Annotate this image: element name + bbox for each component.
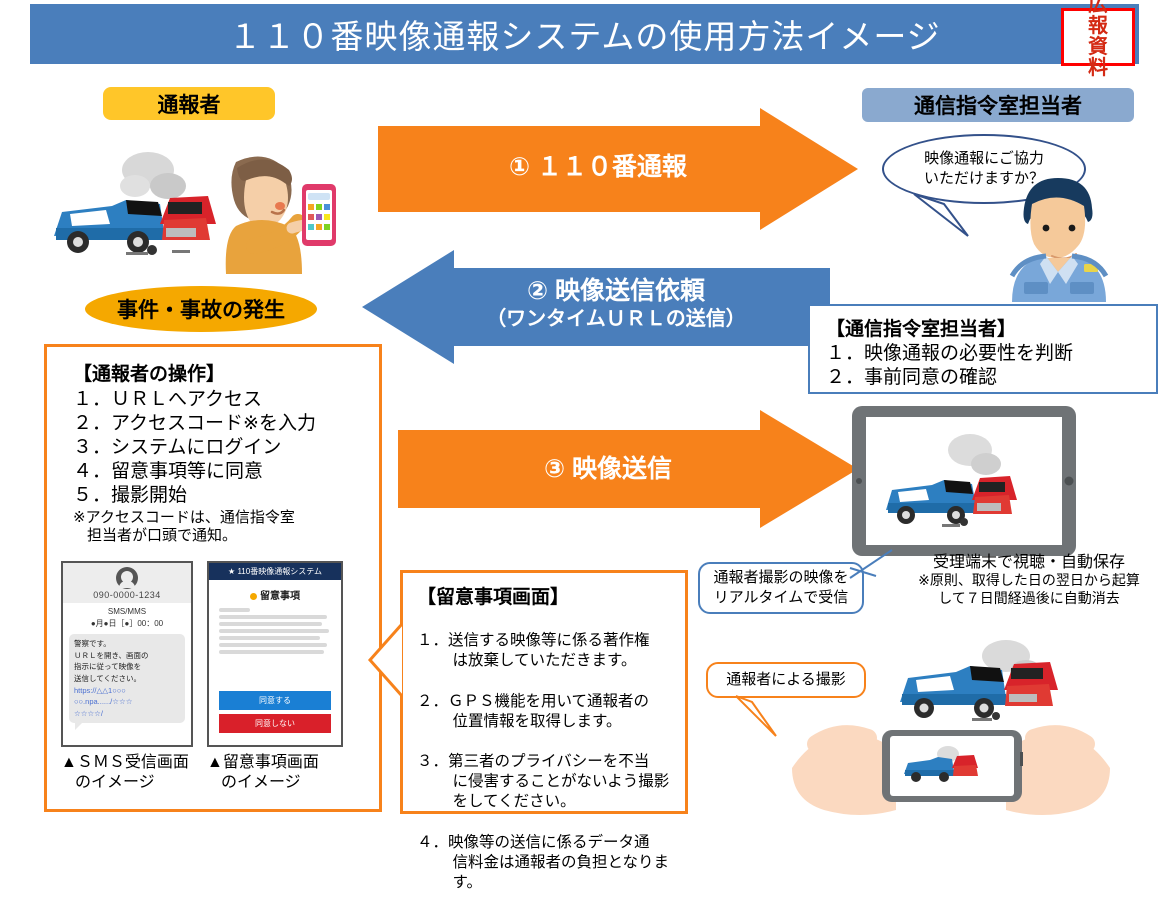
notices-text-placeholder bbox=[209, 608, 341, 654]
sms-body-line2: ＵＲＬを開き、画面の bbox=[74, 650, 180, 662]
access-code-footnote-line2: 担当者が口頭で通知。 bbox=[73, 527, 379, 545]
caller-operations-box: 【通報者の操作】 １．ＵＲＬへアクセス ２．アクセスコード※を入力 ３．システム… bbox=[44, 344, 382, 812]
callout-filming-tail bbox=[730, 694, 790, 740]
list-item: ２．事前同意の確認 bbox=[826, 366, 1156, 390]
hands-filming-illustration bbox=[786, 716, 1116, 824]
arrow-1-report: ① １１０番通報 bbox=[378, 108, 858, 230]
sms-message-bubble: 警察です。 ＵＲＬを開き、画面の 指示に従って映像を 送信してください。 htt… bbox=[69, 634, 185, 723]
list-item: ４．留意事項等に同意 bbox=[73, 460, 379, 484]
terminal-storage-note: 受理端末で視聴・自動保存 ※原則、取得した日の翌日から起算 して７日間経過後に自… bbox=[898, 548, 1160, 608]
arrow-3-video-send: ③ 映像送信 bbox=[398, 408, 858, 530]
dispatcher-illustration bbox=[1000, 168, 1130, 302]
pr-material-badge: 広報資料 bbox=[1061, 8, 1135, 66]
sms-phone-number: 090-0000-1234 bbox=[63, 590, 191, 600]
list-item: ２．アクセスコード※を入力 bbox=[73, 412, 379, 436]
list-item: １．映像通報の必要性を判断 bbox=[826, 342, 1156, 366]
speech-line1: 映像通報にご協力 bbox=[924, 149, 1044, 169]
sms-url-line2[interactable]: ○○.npa....../☆☆☆ bbox=[74, 696, 180, 708]
agree-button[interactable]: 同意する bbox=[219, 691, 331, 710]
list-item: ３．システムにログイン bbox=[73, 436, 379, 460]
incident-ellipse: 事件・事故の発生 bbox=[85, 286, 317, 332]
callout-caller-filming: 通報者による撮影 bbox=[706, 662, 866, 698]
callout-realtime-tail bbox=[848, 548, 896, 582]
dispatcher-operations-title: 【通信指令室担当者】 bbox=[826, 314, 1156, 341]
callout-filming-label: 通報者による撮影 bbox=[726, 670, 846, 690]
notices-mockup-caption: ▲留意事項画面 のイメージ bbox=[207, 753, 319, 793]
disagree-button[interactable]: 同意しない bbox=[219, 714, 331, 733]
notices-phone-mockup: ★ 110番映像通報システム 留意事項 同意する 同意しない bbox=[207, 561, 343, 747]
arrow-3-label: ③ 映像送信 bbox=[398, 454, 858, 485]
list-item: ５．撮影開始 bbox=[73, 484, 379, 508]
contact-avatar-icon bbox=[116, 567, 138, 589]
terminal-note-line1: ※原則、取得した日の翌日から起算 bbox=[898, 572, 1160, 590]
callout-realtime-receive: 通報者撮影の映像を リアルタイムで受信 bbox=[698, 562, 864, 614]
speech-bubble-tail bbox=[910, 190, 980, 240]
arrow-2-label: ② 映像送信依頼 （ワンタイムＵＲＬの送信） bbox=[402, 276, 830, 332]
caller-badge: 通報者 bbox=[103, 87, 275, 120]
list-item: ４．映像等の送信に係るデータ通 信料金は通報者の負担となりま す。 bbox=[417, 833, 675, 893]
dispatcher-operations-box: 【通信指令室担当者】 １．映像通報の必要性を判断 ２．事前同意の確認 bbox=[808, 304, 1158, 394]
dispatcher-badge: 通信指令室担当者 bbox=[862, 88, 1134, 122]
caller-operations-list: １．ＵＲＬへアクセス ２．アクセスコード※を入力 ３．システムにログイン ４．留… bbox=[73, 388, 379, 508]
notices-box-pointer bbox=[366, 620, 406, 700]
sms-body-line1: 警察です。 bbox=[74, 638, 180, 650]
arrow-1-label: ① １１０番通報 bbox=[378, 152, 858, 183]
dispatcher-operations-list: １．映像通報の必要性を判断 ２．事前同意の確認 bbox=[826, 342, 1156, 390]
sms-phone-mockup: 090-0000-1234 SMS/MMS ●月●日［●］00：00 警察です。… bbox=[61, 561, 193, 747]
sms-url-line1[interactable]: https://△△1○○○ bbox=[74, 685, 180, 697]
app-bar-label: 110番映像通報システム bbox=[237, 567, 322, 576]
caller-operations-title: 【通報者の操作】 bbox=[73, 359, 379, 386]
callout-realtime-line1: 通報者撮影の映像を bbox=[713, 568, 848, 588]
caller-badge-label: 通報者 bbox=[158, 89, 221, 119]
police-emblem-icon: ★ bbox=[228, 567, 235, 576]
receiving-terminal-tablet bbox=[852, 406, 1076, 556]
sms-body-line4: 送信してください。 bbox=[74, 673, 180, 685]
incident-label: 事件・事故の発生 bbox=[117, 294, 285, 324]
access-code-footnote-line1: ※アクセスコードは、通信指令室 bbox=[73, 509, 379, 527]
sms-header: 090-0000-1234 bbox=[63, 563, 191, 603]
page-title: １１０番映像通報システムの使用方法イメージ bbox=[228, 10, 940, 58]
sms-datetime: ●月●日［●］00：00 bbox=[63, 618, 191, 630]
list-item: ３．第三者のプライバシーを不当 に侵害することがないよう撮影 をしてください。 bbox=[417, 752, 675, 812]
access-code-footnote: ※アクセスコードは、通信指令室 担当者が口頭で通知。 bbox=[73, 509, 379, 546]
list-item: １．送信する映像等に係る著作権 は放棄していただきます。 bbox=[417, 631, 675, 671]
callout-realtime-line2: リアルタイムで受信 bbox=[713, 588, 848, 608]
dispatcher-badge-label: 通信指令室担当者 bbox=[914, 90, 1082, 120]
list-item: １．ＵＲＬへアクセス bbox=[73, 388, 379, 412]
notices-title: 【留意事項画面】 bbox=[417, 582, 675, 609]
bullet-icon bbox=[250, 593, 257, 600]
terminal-note-line2: して７日間経過後に自動消去 bbox=[898, 590, 1160, 608]
sms-type: SMS/MMS bbox=[63, 606, 191, 618]
notices-box: 【留意事項画面】 １．送信する映像等に係る著作権 は放棄していただきます。 ２．… bbox=[400, 570, 688, 814]
terminal-note-title: 受理端末で視聴・自動保存 bbox=[898, 548, 1160, 572]
notices-list: １．送信する映像等に係る著作権 は放棄していただきます。 ２．ＧＰＳ機能を用いて… bbox=[417, 611, 675, 913]
page-header: １１０番映像通報システムの使用方法イメージ 広報資料 bbox=[30, 4, 1139, 64]
arrow-2-video-request: ② 映像送信依頼 （ワンタイムＵＲＬの送信） bbox=[362, 248, 830, 366]
list-item: ２．ＧＰＳ機能を用いて通報者の 位置情報を取得します。 bbox=[417, 692, 675, 732]
sms-mockup-caption: ▲ＳＭＳ受信画面 のイメージ bbox=[61, 753, 189, 793]
pr-material-badge-label: 広報資料 bbox=[1085, 0, 1111, 79]
app-title-bar: ★ 110番映像通報システム bbox=[209, 563, 341, 580]
app-screen-title: 留意事項 bbox=[209, 587, 341, 602]
caller-illustration bbox=[40, 128, 340, 288]
sms-url-line3[interactable]: ☆☆☆☆/ bbox=[74, 708, 180, 720]
sms-body-line3: 指示に従って映像を bbox=[74, 661, 180, 673]
